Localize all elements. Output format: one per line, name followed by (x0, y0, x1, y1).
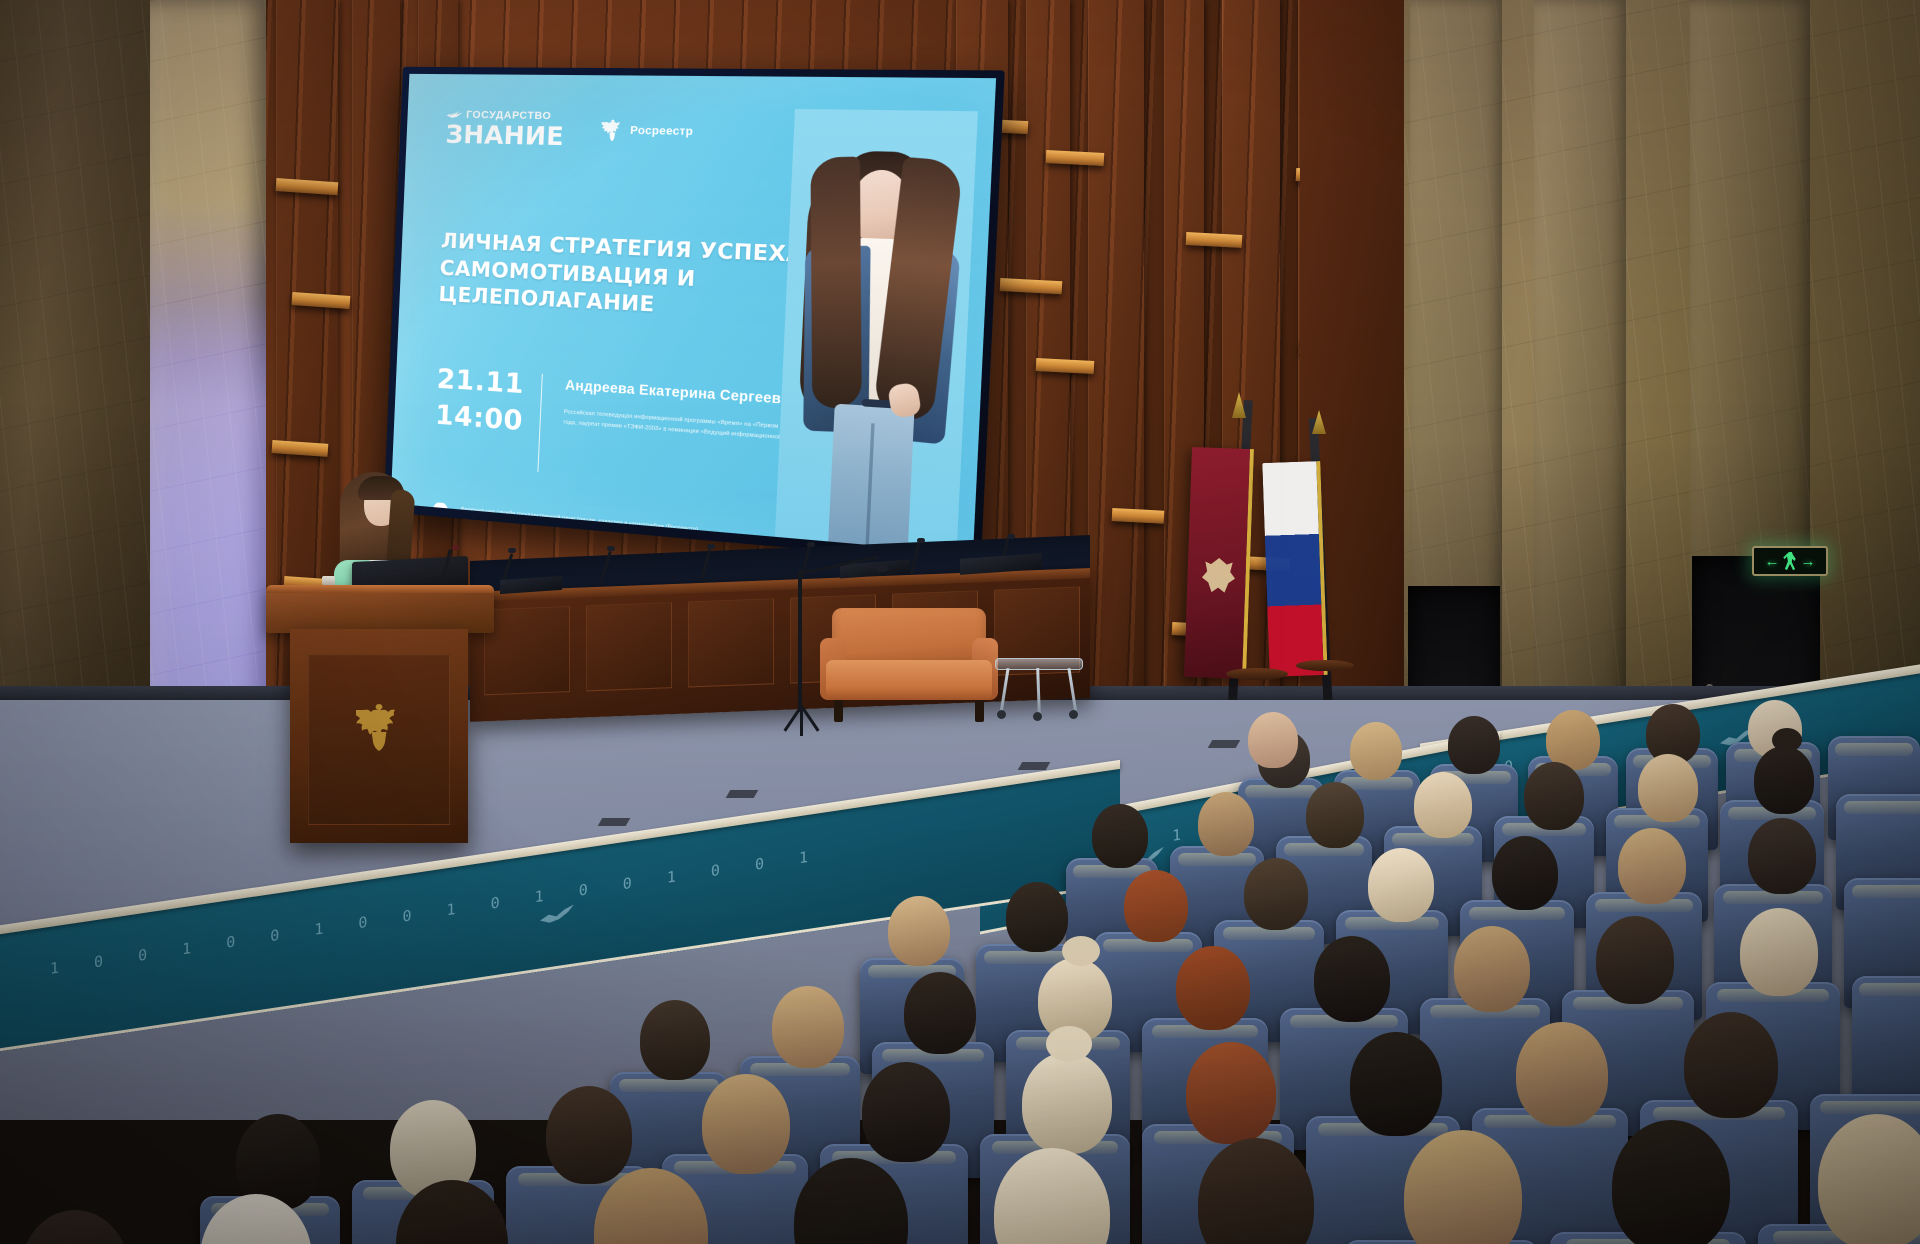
microphone-head-icon (707, 544, 715, 549)
audience-head (1414, 772, 1472, 838)
rosreestr-logo: Росреестр (600, 118, 693, 145)
auditorium-seating: 1 0 0 1 1 0 0 1 0 1 0 0 1 0 0 1 0 0 1 0 … (0, 700, 1920, 1244)
audience-head (546, 1086, 632, 1184)
audience-head (1006, 882, 1068, 952)
eagle-emblem-icon (1200, 557, 1237, 598)
flag-of-russia (1262, 461, 1327, 677)
znanie-logo: ГОСУДАРСТВО ЗНАНИЕ (445, 108, 575, 149)
rosreestr-label: Росреестр (630, 125, 694, 139)
audience-head (1306, 782, 1364, 848)
emergency-exit-sign: ← → (1752, 546, 1828, 576)
audience-head (1546, 710, 1600, 770)
conference-hall-photo: ← → ГОСУДАРСТВО ЗНАНИЕ (0, 0, 1920, 1244)
exit-right-arrow-icon: → (1801, 554, 1816, 569)
audience-head (1022, 1052, 1112, 1154)
audience-head (1248, 712, 1298, 768)
slide-datetime: 21.11 14:00 (434, 361, 542, 441)
audience-head (1516, 1022, 1608, 1126)
hair-bun (1046, 1026, 1092, 1062)
slide-speaker-portrait (760, 109, 993, 554)
audience-head (1198, 792, 1254, 856)
hair-bun (1772, 728, 1802, 752)
audience-head (1448, 716, 1500, 774)
microphone-head-icon (876, 565, 888, 572)
audience-head (1684, 1012, 1778, 1118)
microphone-head-icon (917, 538, 925, 543)
double-headed-eagle-icon (600, 118, 624, 143)
audience-head (20, 1210, 130, 1244)
audience-head (640, 1000, 710, 1080)
standard-of-russia-flag (1184, 447, 1254, 679)
znanie-wordmark: ЗНАНИЕ (445, 122, 574, 150)
microphone-head-icon (807, 542, 815, 547)
audience-head (1740, 908, 1818, 996)
audience-head (1186, 1042, 1276, 1144)
audience-head (1492, 836, 1558, 910)
audience-head (1618, 828, 1686, 904)
audience-head (702, 1074, 790, 1174)
audience-head (888, 896, 950, 966)
gold-shelf-trim (1112, 508, 1165, 524)
microphone-head-icon (508, 548, 516, 553)
audience-head (1176, 946, 1250, 1030)
audience-head (1092, 804, 1148, 868)
audience-head (1124, 870, 1188, 942)
projection-screen: ГОСУДАРСТВО ЗНАНИЕ Рос (391, 74, 996, 554)
flag-base (1296, 660, 1354, 671)
audience-head (1638, 754, 1698, 822)
audience-head (1244, 858, 1308, 930)
audience-head (1454, 926, 1530, 1012)
audience-head (1612, 1120, 1730, 1244)
audience-head (1368, 848, 1434, 922)
spark-icon (446, 110, 462, 119)
running-man-exit-icon (1783, 552, 1798, 570)
slide-logo-row: ГОСУДАРСТВО ЗНАНИЕ Рос (445, 108, 694, 151)
audience-head (772, 986, 844, 1068)
microphone-head-icon (607, 546, 615, 551)
hair-bun (1062, 936, 1100, 966)
audience-head (1524, 762, 1584, 830)
audience-head (1596, 916, 1674, 1004)
exit-left-arrow-icon: ← (1765, 554, 1780, 569)
microphone-head-icon (452, 545, 459, 550)
audience-head (1350, 722, 1402, 780)
audience-head (1754, 746, 1814, 814)
audience-head (1314, 936, 1390, 1022)
presentation-slide: ГОСУДАРСТВО ЗНАНИЕ Рос (391, 74, 996, 554)
flag-base (1226, 668, 1288, 680)
slide-time: 14:00 (434, 398, 540, 442)
microphone-head-icon (1007, 534, 1015, 539)
audience-head (1748, 818, 1816, 894)
audience-head (862, 1062, 950, 1162)
audience-head (1350, 1032, 1442, 1136)
audience-head (904, 972, 976, 1054)
